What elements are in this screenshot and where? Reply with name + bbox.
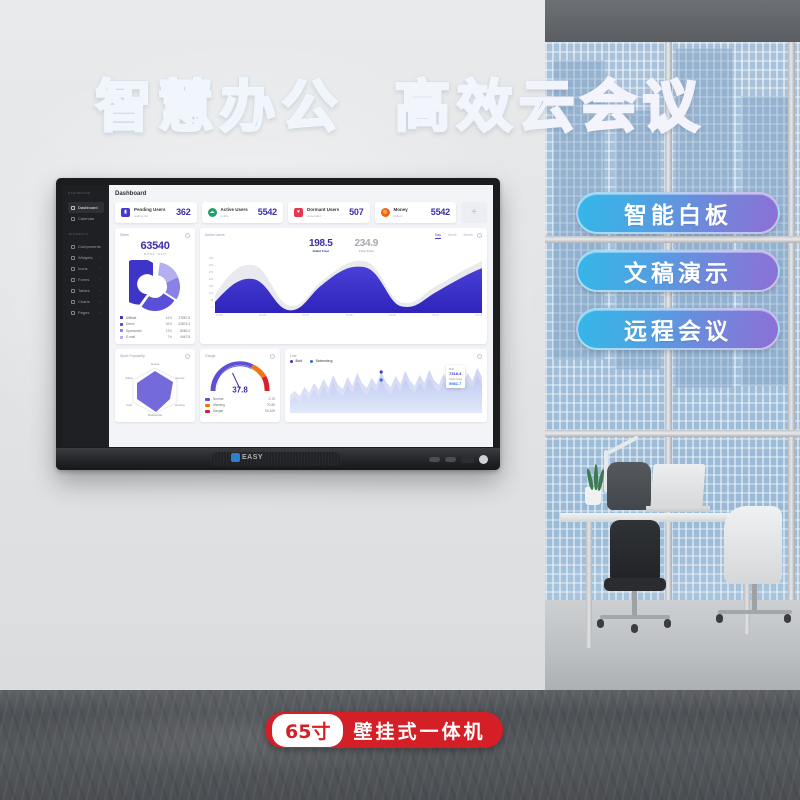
charts-row-upper: Sales 63540 MORE INFO <box>115 228 487 345</box>
chart-icon <box>71 300 75 304</box>
product-spec-pill: 65寸 壁挂式一体机 <box>265 712 503 748</box>
laptop-lid <box>651 464 706 506</box>
page-headline: 智慧办公 高效云会议 <box>0 62 800 143</box>
charts-row-lower: Sport Popularity Tennis Soccer Hockey Ba… <box>115 349 487 422</box>
chair-back-far <box>607 462 651 510</box>
gear-icon[interactable] <box>477 233 482 238</box>
stat-subtitle: waiting list <box>134 214 148 218</box>
donut-legend-item: Sponsored 13% 8260.2 <box>120 329 190 333</box>
stat-card-row: ▮ Pending Users waiting list 362 ☁ <box>115 202 487 223</box>
donut-legend-item: Direct 36% 22874.4 <box>120 322 190 326</box>
chevron-right-icon: › <box>100 299 101 304</box>
chevron-right-icon: › <box>100 266 101 271</box>
window-mullion <box>545 430 800 437</box>
chair-pole-right <box>752 584 757 612</box>
chair-caster <box>664 619 671 628</box>
stat-card-pending-users[interactable]: ▮ Pending Users waiting list 362 <box>115 202 197 223</box>
legend-range: 90-100 <box>265 409 275 413</box>
stat-value: 507 <box>349 207 363 217</box>
badge-smart-whiteboard[interactable]: 智能白板 <box>576 192 780 234</box>
chair-back-right <box>724 506 782 584</box>
chair-caster <box>716 614 723 623</box>
area-range-tabs: Day Week Month <box>435 233 473 240</box>
display-screen: DASHBOARD Dashboard Calendar ELEMENTS Co… <box>63 185 493 447</box>
chair-base-right <box>718 610 792 614</box>
legend-range: 70-90 <box>267 403 275 407</box>
x-tick: 01-05 <box>216 314 223 317</box>
legend-label: Danger <box>213 409 265 413</box>
table-icon <box>71 289 75 293</box>
sidebar-item-label: Widgets <box>78 255 92 260</box>
sidebar-item-label: Tables <box>78 288 90 293</box>
stat-value: 5542 <box>258 207 277 217</box>
sidebar-item-widgets[interactable]: Widgets › <box>68 252 104 263</box>
legend-label: E-mail <box>126 335 158 339</box>
gauge-legend-item: Normal 0-70 <box>205 397 275 401</box>
gear-icon[interactable] <box>185 233 190 238</box>
dashboard-main: Dashboard ▮ Pending Users waiting list <box>109 185 493 447</box>
chevron-right-icon: › <box>100 277 101 282</box>
dashboard-app: DASHBOARD Dashboard Calendar ELEMENTS Co… <box>63 185 493 447</box>
sidebar-item-calendar[interactable]: Calendar <box>68 213 104 224</box>
sidebar: DASHBOARD Dashboard Calendar ELEMENTS Co… <box>63 185 109 447</box>
area-x-axis: 01-05 01-06 01-07 01-08 01-09 01-10 01-1… <box>205 314 482 317</box>
stat-title: Dormant Users <box>307 207 339 212</box>
stat-card-dormant-users[interactable]: ♥ Dormant Users undecided 507 <box>288 202 370 223</box>
legend-range: 0-70 <box>269 397 275 401</box>
hdmi-port-icon <box>429 457 440 462</box>
legend-label: Direct <box>126 322 158 326</box>
page-icon <box>71 311 75 315</box>
donut-total: 63540 <box>120 240 190 252</box>
legend-swatch <box>205 398 210 401</box>
tooltip-series-2-value: 5981.7 <box>449 381 462 386</box>
widget-icon <box>71 256 75 260</box>
bullet-total-value: 198.5 <box>309 238 333 249</box>
feature-badge-list: 智能白板 文稿演示 远程会议 <box>576 192 780 366</box>
logo-text: EASY <box>242 454 263 461</box>
legend-pct: 36% <box>158 322 172 326</box>
sidebar-item-forms[interactable]: Forms › <box>68 274 104 285</box>
y-tick: 350 <box>205 255 213 262</box>
calendar-icon <box>71 217 75 221</box>
brand-logo: EASY <box>231 453 263 462</box>
home-icon <box>71 206 75 210</box>
sidebar-item-label: Components <box>78 244 101 249</box>
legend-swatch <box>120 329 123 332</box>
coin-icon: ◎ <box>381 208 390 217</box>
stat-subtitle: dollars <box>394 214 403 218</box>
badge-document-presentation[interactable]: 文稿演示 <box>576 250 780 292</box>
chair-caster <box>631 624 638 633</box>
legend-swatch <box>205 410 210 413</box>
stat-subtitle: undecided <box>307 214 321 218</box>
legend-swatch <box>120 316 123 319</box>
gauge-card: Gauge 37.8 <box>200 349 280 422</box>
chair-pole <box>632 591 637 617</box>
bookmark-icon: ▮ <box>121 208 130 217</box>
legend-swatch <box>120 323 123 326</box>
gauge-legend-item: Danger 90-100 <box>205 409 275 413</box>
legend-value: 22874.4 <box>172 322 190 326</box>
logo-mark-icon <box>231 453 240 462</box>
y-tick: 300 <box>205 262 213 269</box>
add-card-button[interactable]: + <box>461 202 487 223</box>
gauge-value: 37.8 <box>232 386 248 395</box>
tab-month[interactable]: Month <box>464 233 473 240</box>
x-tick: 01-09 <box>389 314 396 317</box>
donut-legend-item: E-mail 7% 4447.8 <box>120 335 190 339</box>
sidebar-brand: DASHBOARD <box>68 191 104 195</box>
sport-popularity-card: Sport Popularity Tennis Soccer Hockey Ba… <box>115 349 195 422</box>
legend-pct: 13% <box>158 329 172 333</box>
legend-value: 8260.2 <box>172 329 190 333</box>
donut-legend-item: Affiliate 44% 27957.6 <box>120 316 190 320</box>
radar-axis-label: Hockey <box>175 403 186 407</box>
star-icon <box>71 267 75 271</box>
flow-total-value: 234.9 <box>355 238 379 249</box>
sidebar-item-label: Icons <box>78 266 88 271</box>
screen-size-label: 65寸 <box>272 714 343 747</box>
area-plot-area: 350 300 250 200 150 100 50 0 <box>205 255 482 313</box>
stat-card-money[interactable]: ◎ Money dollars 5542 <box>375 202 457 223</box>
radar-axis-label: Golf <box>126 403 132 407</box>
chevron-right-icon: › <box>100 244 101 249</box>
legend-label: Normal <box>213 397 269 401</box>
form-icon <box>71 278 75 282</box>
legend-label: Sponsored <box>126 329 158 333</box>
sidebar-item-label: Forms <box>78 277 89 282</box>
radar-axis-label: Tennis <box>151 362 160 366</box>
legend-label: Affiliate <box>126 316 158 320</box>
chevron-right-icon: › <box>100 288 101 293</box>
legend-pct: 7% <box>158 335 172 339</box>
chair-base <box>600 615 670 619</box>
sidebar-item-icons[interactable]: Icons › <box>68 263 104 274</box>
y-tick: 200 <box>205 276 213 283</box>
heart-icon: ♥ <box>294 208 303 217</box>
stat-value: 5542 <box>431 207 450 217</box>
stat-title: Money <box>394 207 408 212</box>
laptop-base <box>646 506 710 512</box>
card-header: Line <box>290 354 482 358</box>
wall-mounted-display: DASHBOARD Dashboard Calendar ELEMENTS Co… <box>56 178 500 470</box>
line-chart-tooltip: Bolt 7318.4 Swimming 5981.7 <box>446 365 465 388</box>
y-tick: 0 <box>205 304 213 311</box>
desk-leg <box>586 522 592 648</box>
donut-chart <box>120 260 190 312</box>
chevron-right-icon: › <box>100 310 101 315</box>
tab-week[interactable]: Week <box>448 233 457 240</box>
x-tick: 01-11 <box>476 314 482 317</box>
legend-value: 27957.6 <box>172 316 190 320</box>
display-bezel-bottom: EASY <box>56 448 500 470</box>
area-chart-svg <box>215 255 482 313</box>
x-tick: 01-07 <box>303 314 310 317</box>
badge-remote-conference[interactable]: 远程会议 <box>576 308 780 350</box>
legend-pct: 44% <box>158 316 172 320</box>
sidebar-item-dashboard[interactable]: Dashboard <box>68 202 104 213</box>
usb-port-icon <box>461 457 474 463</box>
sidebar-item-tables[interactable]: Tables › <box>68 285 104 296</box>
sidebar-item-label: Charts <box>78 299 90 304</box>
stat-card-active-users[interactable]: ☁ Active Users online 5542 <box>202 202 284 223</box>
legend-swatch <box>120 336 123 339</box>
port-cluster <box>429 455 488 464</box>
bullet-total-label: Bullet Total <box>309 249 333 253</box>
legend-swatch <box>205 404 210 407</box>
cloud-icon: ☁ <box>208 208 217 217</box>
stat-value: 362 <box>176 207 190 217</box>
stat-title: Pending Users <box>134 207 166 212</box>
sales-donut-card: Sales 63540 MORE INFO <box>115 228 195 345</box>
radar-axis-label: Volley <box>125 376 134 380</box>
chair-seat-near <box>604 578 666 591</box>
sidebar-item-components[interactable]: Components › <box>68 241 104 252</box>
sidebar-item-label: Pages <box>78 310 89 315</box>
sidebar-section-elements: ELEMENTS <box>69 232 104 236</box>
chair-back-near <box>610 520 660 582</box>
chevron-right-icon: › <box>100 255 101 260</box>
hdmi-port-icon <box>445 457 456 462</box>
tab-day[interactable]: Day <box>435 233 441 240</box>
radar-axis-label: Basketball <box>148 413 162 416</box>
sidebar-item-pages[interactable]: Pages › <box>68 307 104 318</box>
donut-subtitle[interactable]: MORE INFO <box>120 252 190 256</box>
x-tick: 01-06 <box>259 314 266 317</box>
sidebar-item-charts[interactable]: Charts › <box>68 296 104 307</box>
x-tick: 01-08 <box>346 314 353 317</box>
chair-caster <box>784 614 791 623</box>
grid-icon <box>71 245 75 249</box>
card-header: Sales <box>120 233 190 237</box>
tooltip-series-1-value: 7318.4 <box>449 371 462 376</box>
mount-type-label: 壁挂式一体机 <box>353 717 485 744</box>
stat-subtitle: online <box>221 214 229 218</box>
gauge-chart-svg: 37.8 <box>205 358 275 394</box>
legend-label: Warning <box>213 403 267 407</box>
power-led-icon <box>479 455 488 464</box>
office-ceiling <box>545 0 800 42</box>
legend-value: 4447.8 <box>172 335 190 339</box>
y-tick: 100 <box>205 290 213 297</box>
x-tick: 01-10 <box>432 314 439 317</box>
sidebar-item-label: Dashboard <box>78 205 98 210</box>
stat-title: Active Users <box>221 207 248 212</box>
area-y-axis: 350 300 250 200 150 100 50 0 <box>205 255 215 313</box>
gauge-legend-item: Warning 70-90 <box>205 403 275 407</box>
flow-total-label: Flow Total <box>355 249 379 253</box>
y-tick: 250 <box>205 269 213 276</box>
sidebar-item-label: Calendar <box>78 216 94 221</box>
line-chart-card: Line Bolt Swimming <box>285 349 487 422</box>
chair-caster <box>597 619 604 628</box>
y-tick: 50 <box>205 297 213 304</box>
page-title: Dashboard <box>115 191 487 197</box>
active-users-area-card: Active Users Day Week Month 198.5 Bulle <box>200 228 487 345</box>
y-tick: 150 <box>205 283 213 290</box>
radar-axis-label: Soccer <box>175 376 184 380</box>
poster-stage: 智慧办公 高效云会议 DASHBOARD Dashboard Calendar … <box>0 0 800 800</box>
radar-chart-svg: Tennis Soccer Hockey Basketball Golf Vol… <box>120 358 190 416</box>
